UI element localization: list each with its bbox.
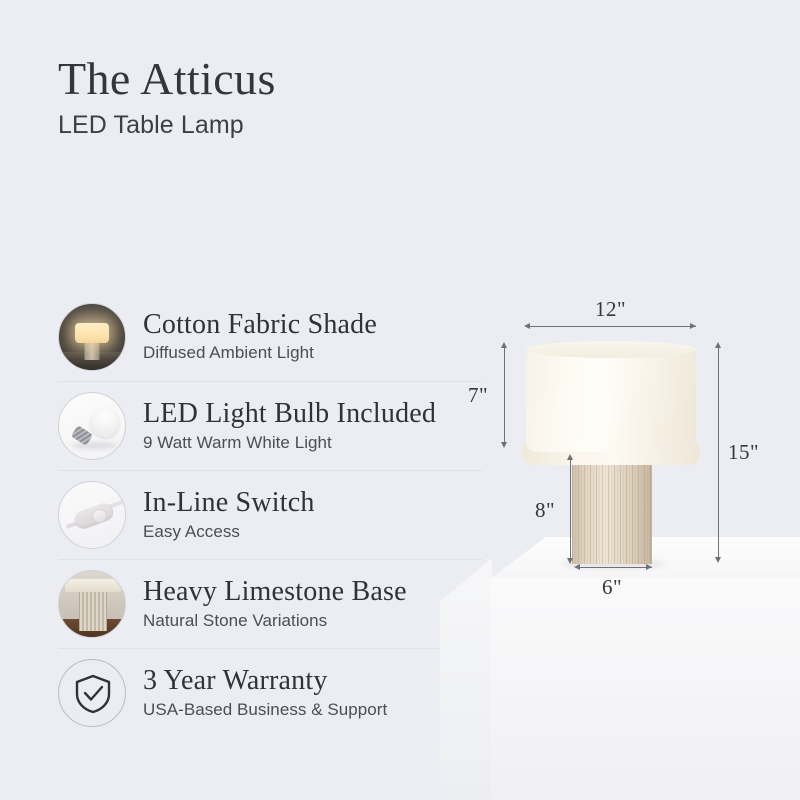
feature-heading: In-Line Switch [143, 488, 315, 518]
feature-subtext: Easy Access [143, 522, 315, 542]
page-title: The Atticus [58, 54, 276, 104]
led-bulb-photo-icon [58, 392, 126, 460]
dim-line-shade-width [526, 326, 696, 327]
page-subtitle: LED Table Lamp [58, 111, 276, 140]
dim-line-base-width [576, 567, 652, 568]
dim-line-shade-height [504, 346, 505, 446]
feature-subtext: USA-Based Business & Support [143, 700, 387, 720]
feature-subtext: 9 Watt Warm White Light [143, 433, 436, 453]
feature-item-cotton-fabric-shade: Cotton Fabric Shade Diffused Ambient Lig… [58, 292, 482, 381]
feature-heading: Heavy Limestone Base [143, 577, 407, 607]
lit-lamp-photo-icon [58, 303, 126, 371]
limestone-base-photo-icon [58, 570, 126, 638]
lamp-fabric-shade [526, 346, 696, 452]
table-lamp-dimension-diagram: 12" 7" 15" 8" 6" [430, 280, 800, 800]
dim-line-base-height [570, 458, 571, 562]
inline-switch-photo-icon [58, 481, 126, 549]
dim-label-shade-height: 7" [468, 383, 488, 408]
dim-label-total-height: 15" [728, 440, 759, 465]
header: The Atticus LED Table Lamp [58, 54, 276, 140]
feature-heading: 3 Year Warranty [143, 666, 387, 696]
feature-item-in-line-switch: In-Line Switch Easy Access [58, 470, 482, 559]
dim-label-base-height: 8" [535, 498, 555, 523]
shield-check-icon [58, 659, 126, 727]
feature-list: Cotton Fabric Shade Diffused Ambient Lig… [58, 292, 482, 737]
feature-subtext: Diffused Ambient Light [143, 343, 377, 363]
dim-line-total-height [718, 346, 719, 561]
product-infographic: The Atticus LED Table Lamp Cotton Fabric… [0, 0, 800, 800]
lamp-illustration [522, 340, 700, 562]
dim-label-base-width: 6" [602, 575, 622, 600]
feature-item-led-light-bulb: LED Light Bulb Included 9 Watt Warm Whit… [58, 381, 482, 470]
feature-heading: LED Light Bulb Included [143, 399, 436, 429]
feature-heading: Cotton Fabric Shade [143, 310, 377, 340]
feature-item-warranty: 3 Year Warranty USA-Based Business & Sup… [58, 648, 482, 737]
dim-label-shade-width: 12" [595, 297, 626, 322]
feature-subtext: Natural Stone Variations [143, 611, 407, 631]
lamp-limestone-base [572, 460, 652, 564]
feature-item-limestone-base: Heavy Limestone Base Natural Stone Varia… [58, 559, 482, 648]
